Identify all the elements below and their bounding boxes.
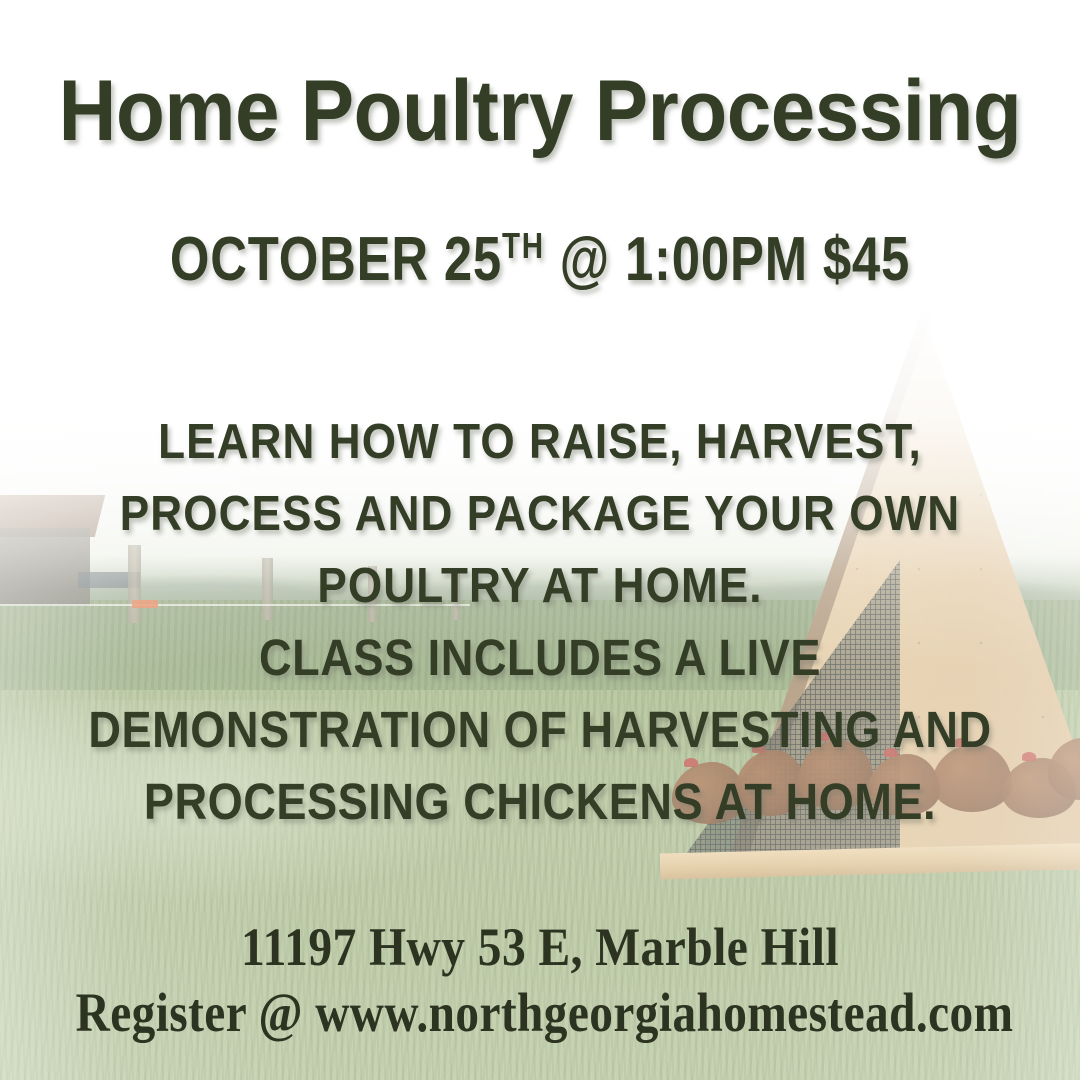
event-time-price: @ 1:00PM $45 [545, 225, 910, 294]
description-paragraph-2: CLASS INCLUDES A LIVE DEMONSTRATION OF H… [62, 622, 1018, 838]
description-paragraph-1: LEARN HOW TO RAISE, HARVEST, PROCESS AND… [54, 406, 1026, 622]
text-layer: Home Poultry Processing OCTOBER 25TH @ 1… [0, 0, 1080, 1080]
event-datetime-price: OCTOBER 25TH @ 1:00PM $45 [97, 228, 983, 291]
venue-address: 11197 Hwy 53 E, Marble Hill [65, 920, 1015, 974]
date-ordinal-suffix: TH [502, 225, 545, 266]
flyer-canvas: Home Poultry Processing OCTOBER 25TH @ 1… [0, 0, 1080, 1080]
page-title: Home Poultry Processing [38, 68, 1042, 154]
event-date-prefix: OCTOBER 25 [170, 225, 502, 294]
registration-website[interactable]: Register @ www.northgeorgiahomestead.com [76, 985, 1005, 1040]
